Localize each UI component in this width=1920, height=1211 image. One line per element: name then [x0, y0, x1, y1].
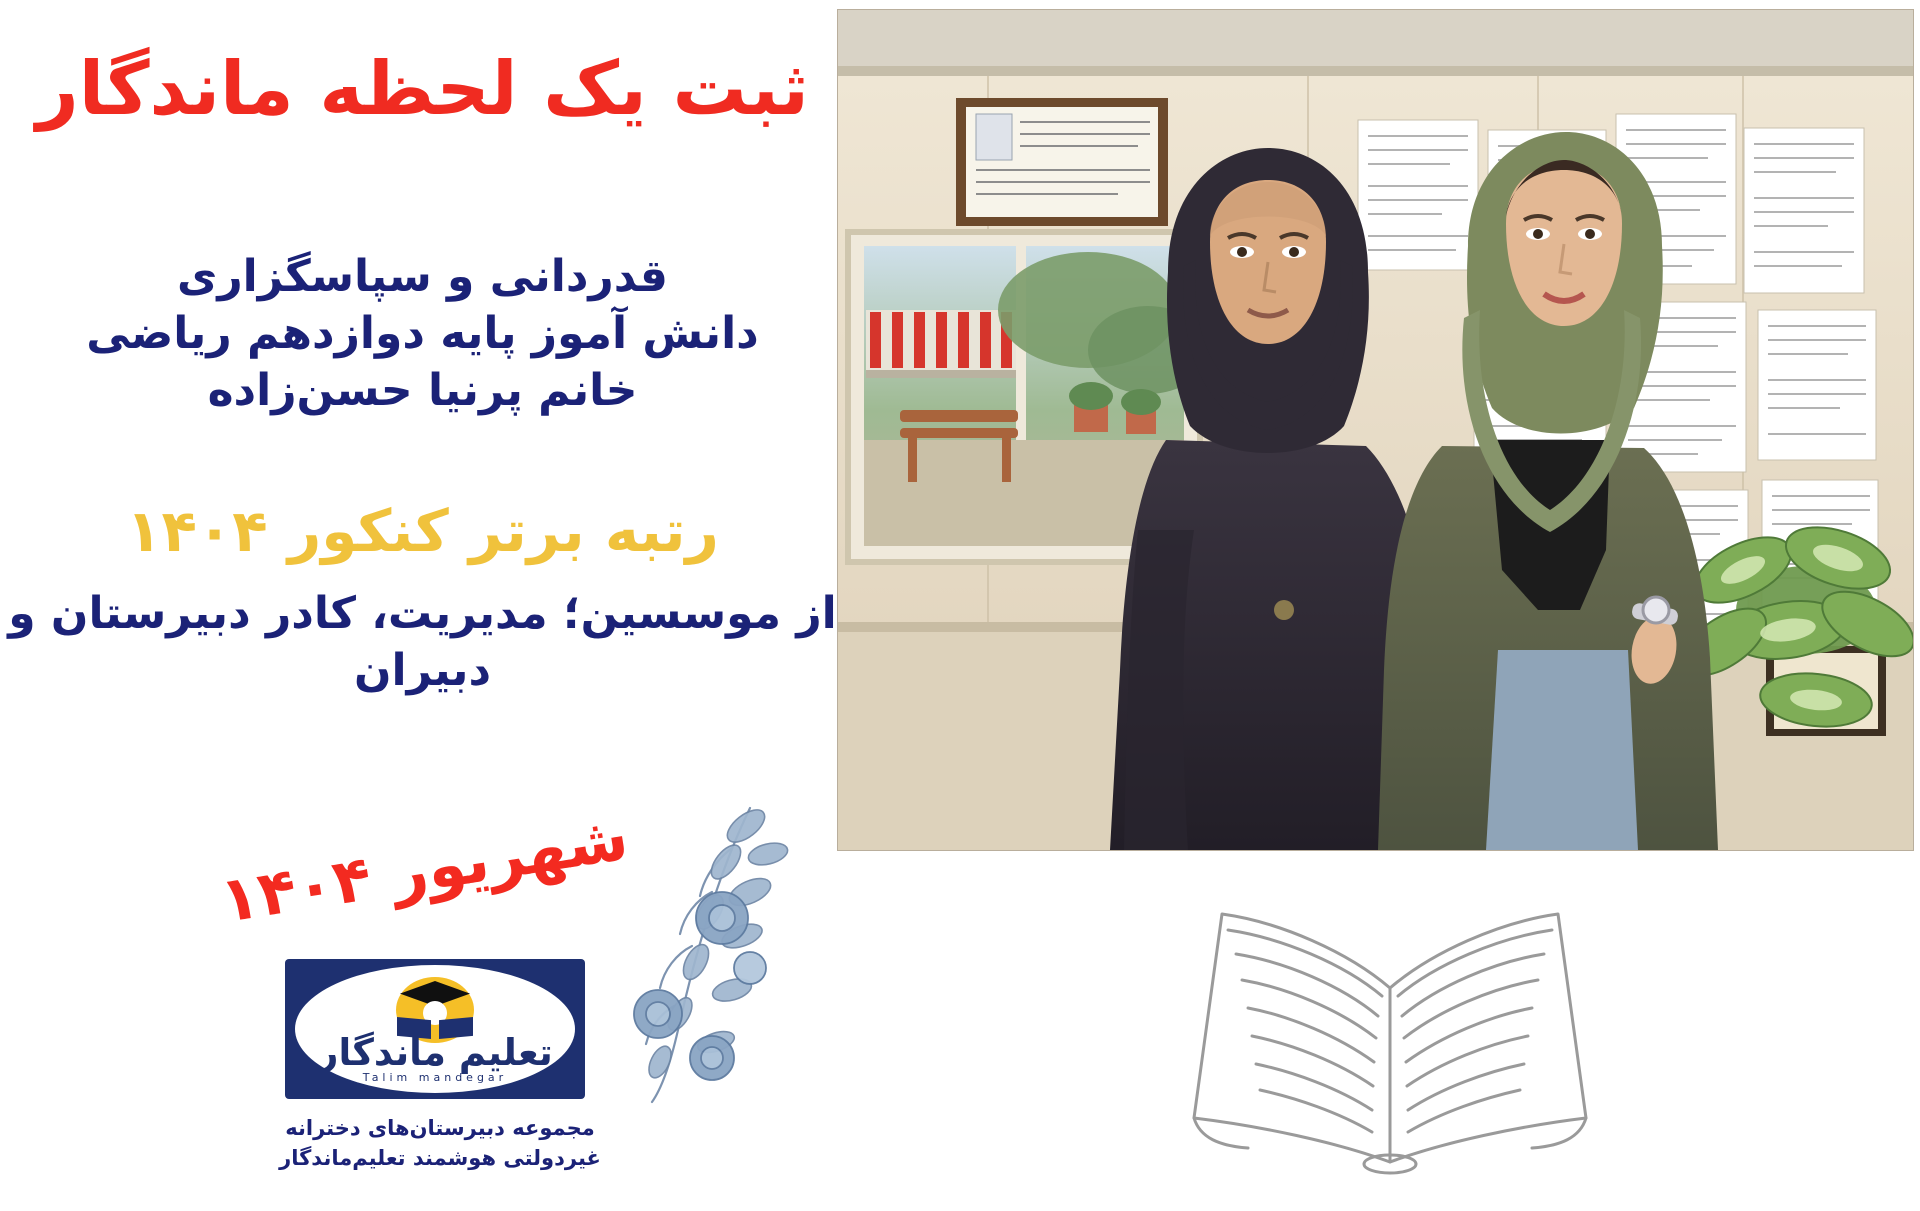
photo-content	[838, 10, 1913, 850]
logo-caption-line-1: مجموعه دبیرستان‌های دخترانه	[260, 1113, 620, 1143]
date-stamp: شهریور ۱۴۰۴	[215, 800, 633, 936]
body-line-2: دانش آموز پایه دوازدهم ریاضی	[10, 305, 835, 362]
body-line-1: قدردانی و سپاسگزاری	[10, 248, 835, 305]
logo-latin-name: Talim mandegar	[285, 1071, 585, 1084]
logo-wordmark: تعلیم ماندگار	[285, 1031, 585, 1074]
logo-caption: مجموعه دبیرستان‌های دخترانه غیردولتی هوش…	[260, 1113, 620, 1174]
poster-canvas: ثبت یک لحظه ماندگار قدردانی و سپاسگزاری …	[0, 0, 1920, 1211]
highlight-rank-line: رتبه برتر کنکور ۱۴۰۴	[0, 500, 845, 564]
logo-caption-line-2: غیردولتی هوشمند تعلیم‌ماندگار	[260, 1143, 620, 1173]
body2-line-2: دبیران	[6, 642, 839, 699]
body-text-block-2: از موسسین؛ مدیریت، کادر دبیرستان و دبیرا…	[0, 585, 845, 699]
open-book-icon	[1130, 880, 1650, 1180]
page-title: ثبت یک لحظه ماندگار	[0, 48, 845, 131]
floral-branch-icon	[600, 800, 810, 1110]
photograph	[838, 10, 1913, 850]
body-line-3: خانم پرنیا حسن‌زاده	[10, 362, 835, 419]
logo-badge: تعلیم ماندگار Talim mandegar	[285, 959, 585, 1099]
body2-line-1: از موسسین؛ مدیریت، کادر دبیرستان و	[6, 585, 839, 642]
school-logo: تعلیم ماندگار Talim mandegar	[285, 959, 585, 1099]
body-text-block: قدردانی و سپاسگزاری دانش آموز پایه دوازد…	[0, 248, 845, 420]
